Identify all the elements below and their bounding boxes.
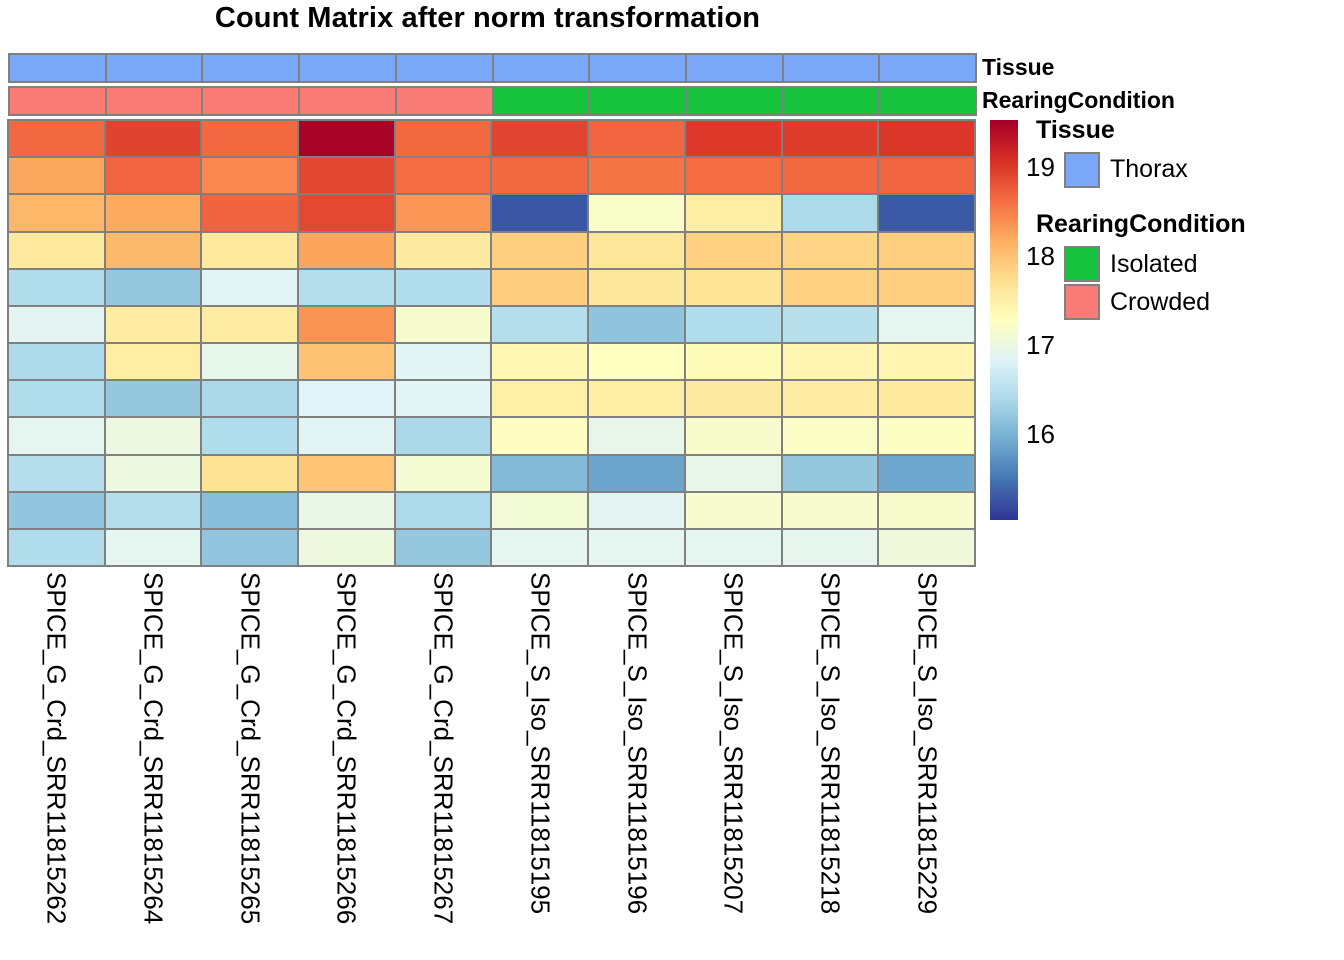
heatmap-cell <box>781 268 880 307</box>
legend-swatch-isolated <box>1064 246 1100 282</box>
heatmap-cell <box>297 156 396 195</box>
tissue-cell-1 <box>105 53 204 83</box>
heatmap-cell <box>587 268 686 307</box>
heatmap-cell <box>781 342 880 381</box>
rearing-cell-9 <box>878 86 977 116</box>
heatmap-cell <box>490 231 589 270</box>
heatmap-cell <box>781 119 880 158</box>
heatmap-cell <box>200 193 299 232</box>
tissue-cell-7 <box>685 53 784 83</box>
tissue-cell-4 <box>395 53 494 83</box>
heatmap-cell <box>394 454 493 493</box>
heatmap-cell <box>104 491 203 530</box>
heatmap-cell <box>297 342 396 381</box>
heatmap-cell <box>200 156 299 195</box>
heatmap-cell <box>104 231 203 270</box>
x-axis-label-2: SPICE_G_Crd_SRR11815265 <box>201 568 298 960</box>
rearing-cell-2 <box>201 86 300 116</box>
heatmap-cell <box>877 342 976 381</box>
heatmap-cell <box>200 454 299 493</box>
heatmap-cell <box>587 491 686 530</box>
heatmap-cell <box>104 454 203 493</box>
heatmap-cell <box>684 119 783 158</box>
heatmap-cell <box>587 156 686 195</box>
heatmap-cell <box>394 119 493 158</box>
heatmap-cell <box>104 119 203 158</box>
heatmap-cell <box>104 268 203 307</box>
x-axis-labels: SPICE_G_Crd_SRR11815262SPICE_G_Crd_SRR11… <box>8 568 975 960</box>
heatmap-cell <box>7 231 106 270</box>
tissue-cell-2 <box>201 53 300 83</box>
heatmap-cell <box>490 156 589 195</box>
heatmap-cell <box>684 193 783 232</box>
legend-swatch-crowded <box>1064 284 1100 320</box>
heatmap-cell <box>877 268 976 307</box>
heatmap-cell <box>104 305 203 344</box>
heatmap-cell <box>877 528 976 567</box>
heatmap-cell <box>7 342 106 381</box>
x-axis-label-text: SPICE_G_Crd_SRR11815264 <box>138 572 169 924</box>
rearing-cell-6 <box>588 86 687 116</box>
heatmap-cell <box>104 156 203 195</box>
heatmap-cell <box>104 193 203 232</box>
heatmap-cell <box>877 156 976 195</box>
heatmap-cell <box>394 379 493 418</box>
heatmap-cell <box>684 268 783 307</box>
heatmap-cell <box>877 454 976 493</box>
heatmap-cell <box>7 528 106 567</box>
heatmap-cell <box>490 528 589 567</box>
x-axis-label-text: SPICE_S_Iso_SRR11815195 <box>524 572 555 914</box>
legend-label-crowded: Crowded <box>1110 288 1210 317</box>
heatmap-cell <box>297 379 396 418</box>
x-axis-label-text: SPICE_G_Crd_SRR11815266 <box>331 572 362 924</box>
heatmap-cell <box>684 491 783 530</box>
tissue-cell-5 <box>492 53 591 83</box>
x-axis-label-text: SPICE_S_Iso_SRR11815196 <box>621 572 652 914</box>
colorbar-tick-19: 19 <box>1026 152 1055 183</box>
heatmap-cell <box>490 119 589 158</box>
legend-label-isolated: Isolated <box>1110 250 1198 279</box>
heatmap-cell <box>394 156 493 195</box>
heatmap-cell <box>7 305 106 344</box>
heatmap-cell <box>877 305 976 344</box>
heatmap-cell <box>587 119 686 158</box>
heatmap-cell <box>781 416 880 455</box>
heatmap-cell <box>587 342 686 381</box>
colorbar-tick-18: 18 <box>1026 241 1055 272</box>
heatmap-cell <box>297 119 396 158</box>
heatmap-cell <box>587 454 686 493</box>
heatmap-cell <box>297 305 396 344</box>
heatmap-cell <box>297 528 396 567</box>
heatmap-cell <box>7 119 106 158</box>
x-axis-label-text: SPICE_G_Crd_SRR11815267 <box>428 572 459 924</box>
heatmap-cell <box>684 231 783 270</box>
heatmap-cell <box>684 454 783 493</box>
heatmap-cell <box>200 528 299 567</box>
x-axis-label-0: SPICE_G_Crd_SRR11815262 <box>8 568 105 960</box>
heatmap-cell <box>781 305 880 344</box>
rearing-cell-5 <box>492 86 591 116</box>
heatmap-cell <box>587 305 686 344</box>
rearing-condition-annotation-label: RearingCondition <box>982 87 1175 114</box>
x-axis-label-9: SPICE_S_Iso_SRR11815229 <box>878 568 975 960</box>
heatmap-grid <box>8 120 975 566</box>
heatmap-cell <box>490 454 589 493</box>
rearing-condition-annotation-bar <box>8 86 975 116</box>
x-axis-label-4: SPICE_G_Crd_SRR11815267 <box>395 568 492 960</box>
heatmap-cell <box>200 416 299 455</box>
heatmap-cell <box>877 416 976 455</box>
heatmap-cell <box>7 491 106 530</box>
heatmap-cell <box>7 193 106 232</box>
x-axis-label-8: SPICE_S_Iso_SRR11815218 <box>782 568 879 960</box>
heatmap-cell <box>7 416 106 455</box>
x-axis-label-3: SPICE_G_Crd_SRR11815266 <box>298 568 395 960</box>
heatmap-cell <box>297 454 396 493</box>
heatmap-cell <box>490 268 589 307</box>
page-title: Count Matrix after norm transformation <box>0 2 975 35</box>
heatmap-cell <box>200 491 299 530</box>
heatmap-cell <box>394 342 493 381</box>
rearing-cell-4 <box>395 86 494 116</box>
heatmap-cell <box>587 416 686 455</box>
heatmap-cell <box>877 379 976 418</box>
heatmap-cell <box>684 528 783 567</box>
rearing-cell-7 <box>685 86 784 116</box>
heatmap-cell <box>297 416 396 455</box>
heatmap-cell <box>297 193 396 232</box>
heatmap-cell <box>297 268 396 307</box>
x-axis-label-1: SPICE_G_Crd_SRR11815264 <box>105 568 202 960</box>
heatmap-cell <box>877 491 976 530</box>
heatmap-cell <box>490 342 589 381</box>
heatmap-cell <box>200 231 299 270</box>
heatmap-cell <box>587 528 686 567</box>
colorbar-tick-16: 16 <box>1026 419 1055 450</box>
colorbar-tick-17: 17 <box>1026 330 1055 361</box>
colorbar <box>990 120 1018 520</box>
tissue-cell-3 <box>298 53 397 83</box>
heatmap-cell <box>877 193 976 232</box>
heatmap-cell <box>587 193 686 232</box>
rearing-cell-8 <box>782 86 881 116</box>
x-axis-label-text: SPICE_S_Iso_SRR11815218 <box>814 572 845 914</box>
heatmap-cell <box>394 491 493 530</box>
heatmap-cell <box>394 305 493 344</box>
tissue-cell-9 <box>878 53 977 83</box>
heatmap-cell <box>7 156 106 195</box>
heatmap-cell <box>781 528 880 567</box>
heatmap-cell <box>297 231 396 270</box>
heatmap-cell <box>7 454 106 493</box>
heatmap-cell <box>781 491 880 530</box>
heatmap-cell <box>7 268 106 307</box>
tissue-annotation-bar <box>8 53 975 83</box>
heatmap-cell <box>104 416 203 455</box>
heatmap-cell <box>587 231 686 270</box>
rearing-cell-1 <box>105 86 204 116</box>
heatmap-cell <box>7 379 106 418</box>
heatmap-cell <box>490 379 589 418</box>
heatmap-cell <box>684 342 783 381</box>
heatmap-cell <box>490 491 589 530</box>
x-axis-label-text: SPICE_S_Iso_SRR11815207 <box>718 572 749 914</box>
heatmap-cell <box>877 231 976 270</box>
heatmap-cell <box>781 379 880 418</box>
x-axis-label-6: SPICE_S_Iso_SRR11815196 <box>588 568 685 960</box>
heatmap-cell <box>394 416 493 455</box>
x-axis-label-7: SPICE_S_Iso_SRR11815207 <box>685 568 782 960</box>
legend-swatch-thorax <box>1064 152 1100 188</box>
heatmap-cell <box>684 416 783 455</box>
heatmap-cell <box>394 193 493 232</box>
heatmap-cell <box>394 528 493 567</box>
heatmap-cell <box>781 156 880 195</box>
heatmap-cell <box>104 379 203 418</box>
heatmap-cell <box>394 231 493 270</box>
tissue-cell-6 <box>588 53 687 83</box>
heatmap-cell <box>684 305 783 344</box>
tissue-cell-0 <box>8 53 107 83</box>
rearing-cell-3 <box>298 86 397 116</box>
x-axis-label-5: SPICE_S_Iso_SRR11815195 <box>492 568 589 960</box>
heatmap-cell <box>297 491 396 530</box>
heatmap-cell <box>200 268 299 307</box>
heatmap-cell <box>200 119 299 158</box>
legend-title-rearing-condition: RearingCondition <box>1036 210 1246 239</box>
legend-title-tissue: Tissue <box>1036 116 1115 145</box>
heatmap-cell <box>684 156 783 195</box>
heatmap-cell <box>104 528 203 567</box>
heatmap-cell <box>684 379 783 418</box>
heatmap-cell <box>200 379 299 418</box>
heatmap-cell <box>490 416 589 455</box>
heatmap-cell <box>877 119 976 158</box>
tissue-annotation-label: Tissue <box>982 54 1054 81</box>
heatmap-cell <box>200 305 299 344</box>
heatmap-cell <box>490 193 589 232</box>
rearing-cell-0 <box>8 86 107 116</box>
heatmap-cell <box>200 342 299 381</box>
tissue-cell-8 <box>782 53 881 83</box>
heatmap-cell <box>781 454 880 493</box>
heatmap-cell <box>490 305 589 344</box>
x-axis-label-text: SPICE_G_Crd_SRR11815262 <box>41 572 72 924</box>
heatmap-cell <box>104 342 203 381</box>
legend-label-thorax: Thorax <box>1110 155 1188 184</box>
x-axis-label-text: SPICE_S_Iso_SRR11815229 <box>911 572 942 914</box>
x-axis-label-text: SPICE_G_Crd_SRR11815265 <box>234 572 265 924</box>
heatmap-cell <box>781 231 880 270</box>
heatmap-cell <box>587 379 686 418</box>
heatmap-cell <box>781 193 880 232</box>
heatmap-cell <box>394 268 493 307</box>
